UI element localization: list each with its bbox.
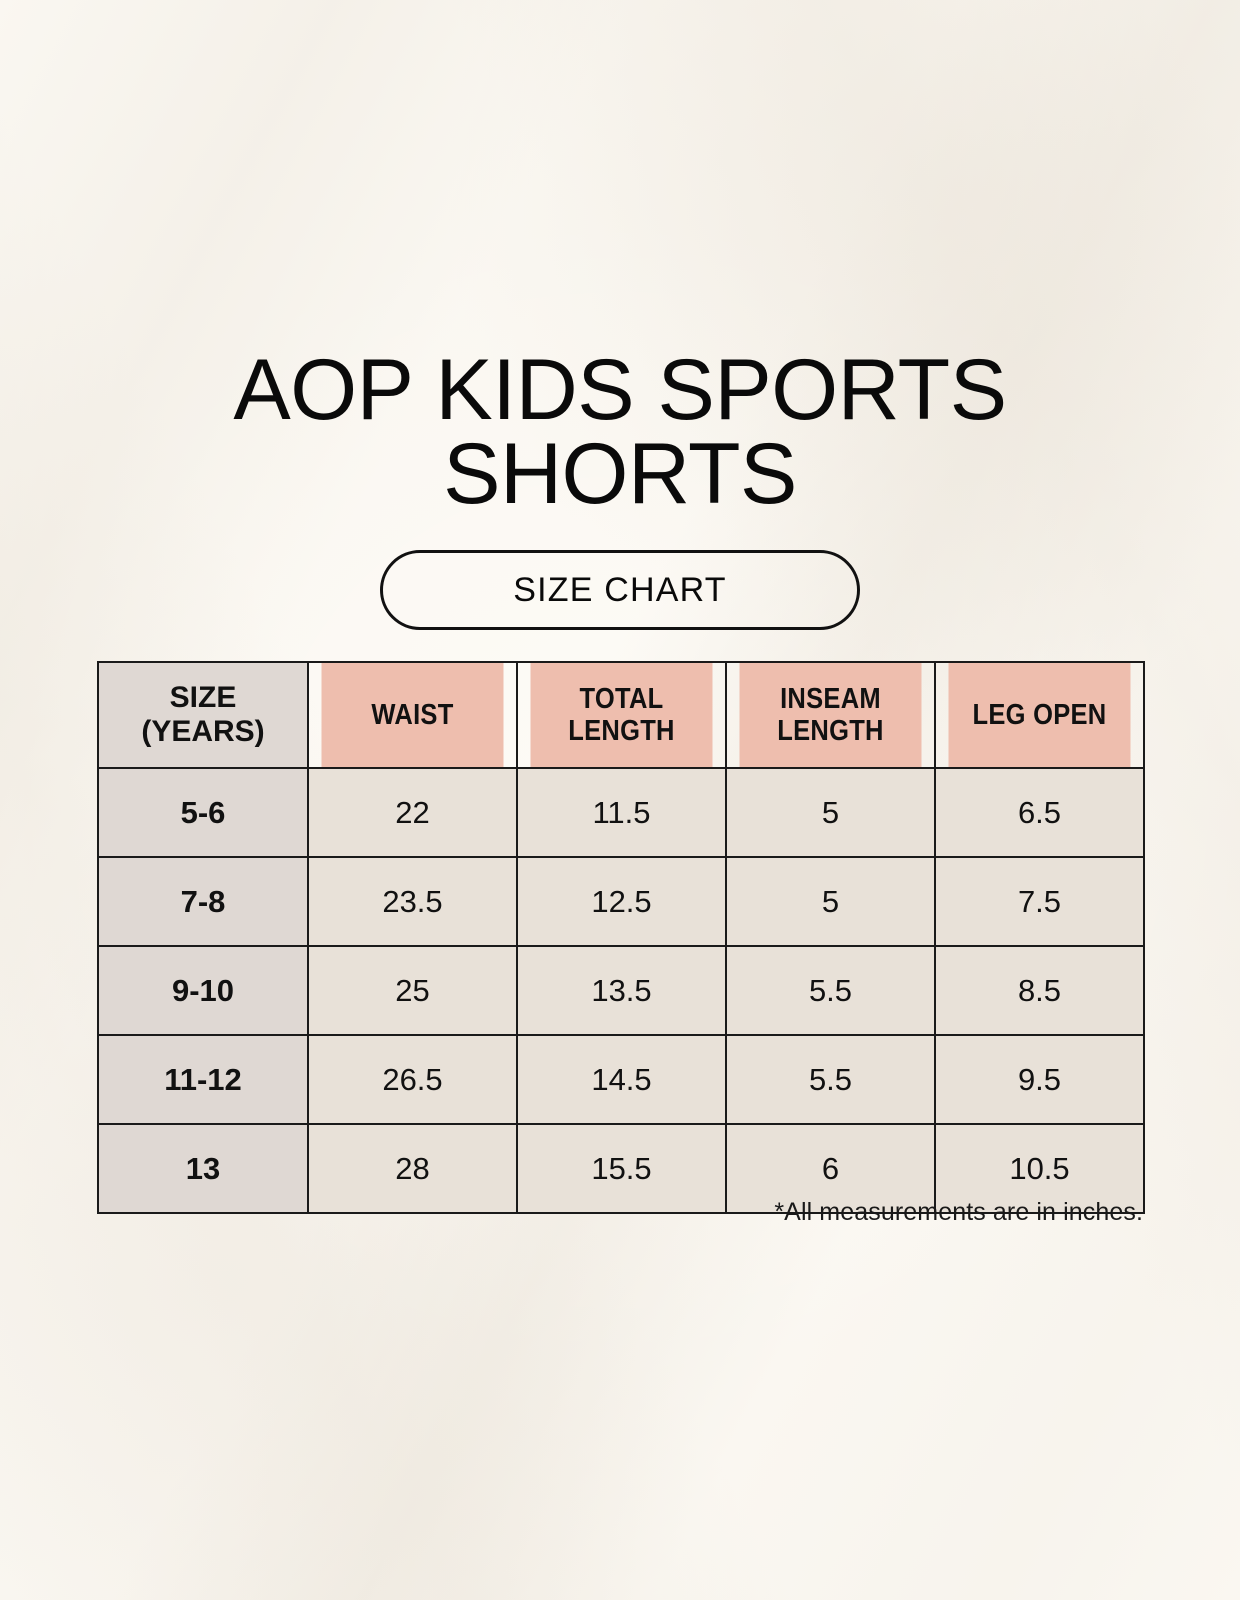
cell-inseam-length: 5 <box>726 857 935 946</box>
column-header-size: SIZE (YEARS) <box>98 662 308 768</box>
table-row: 11-12 26.5 14.5 5.5 9.5 <box>98 1035 1144 1124</box>
cell-waist: 22 <box>308 768 517 857</box>
column-header-total-length: TOTAL LENGTH <box>530 662 714 768</box>
cell-total-length: 14.5 <box>517 1035 726 1124</box>
cell-leg-open: 6.5 <box>935 768 1144 857</box>
cell-inseam-length: 5 <box>726 768 935 857</box>
size-table-body: 5-6 22 11.5 5 6.5 7-8 23.5 12.5 5 7.5 9-… <box>98 768 1144 1213</box>
cell-leg-open: 8.5 <box>935 946 1144 1035</box>
table-row: 7-8 23.5 12.5 5 7.5 <box>98 857 1144 946</box>
cell-inseam-length: 5.5 <box>726 1035 935 1124</box>
page-title: AOP KIDS SPORTS SHORTS <box>0 348 1240 517</box>
cell-waist: 26.5 <box>308 1035 517 1124</box>
column-header-inseam-length: INSEAM LENGTH <box>739 662 923 768</box>
table-header-row: SIZE (YEARS) WAIST TOTAL LENGTH INSEAM L… <box>98 662 1144 768</box>
cell-size: 7-8 <box>98 857 308 946</box>
size-table-container: SIZE (YEARS) WAIST TOTAL LENGTH INSEAM L… <box>97 661 1143 1214</box>
table-row: 9-10 25 13.5 5.5 8.5 <box>98 946 1144 1035</box>
cell-total-length: 12.5 <box>517 857 726 946</box>
table-row: 5-6 22 11.5 5 6.5 <box>98 768 1144 857</box>
column-header-waist: WAIST <box>321 662 505 768</box>
cell-leg-open: 9.5 <box>935 1035 1144 1124</box>
cell-leg-open: 7.5 <box>935 857 1144 946</box>
measurement-units-note: *All measurements are in inches. <box>97 1198 1143 1227</box>
cell-waist: 25 <box>308 946 517 1035</box>
cell-waist: 23.5 <box>308 857 517 946</box>
cell-size: 5-6 <box>98 768 308 857</box>
cell-inseam-length: 5.5 <box>726 946 935 1035</box>
cell-size: 9-10 <box>98 946 308 1035</box>
cell-total-length: 11.5 <box>517 768 726 857</box>
size-table-header: SIZE (YEARS) WAIST TOTAL LENGTH INSEAM L… <box>98 662 1144 768</box>
size-chart-page: AOP KIDS SPORTS SHORTS SIZE CHART SIZE (… <box>0 0 1240 1600</box>
cell-total-length: 13.5 <box>517 946 726 1035</box>
cell-size: 11-12 <box>98 1035 308 1124</box>
column-header-leg-open: LEG OPEN <box>948 662 1132 768</box>
size-chart-badge-label: SIZE CHART <box>513 571 727 610</box>
size-table: SIZE (YEARS) WAIST TOTAL LENGTH INSEAM L… <box>97 661 1145 1214</box>
size-chart-badge: SIZE CHART <box>380 550 860 630</box>
